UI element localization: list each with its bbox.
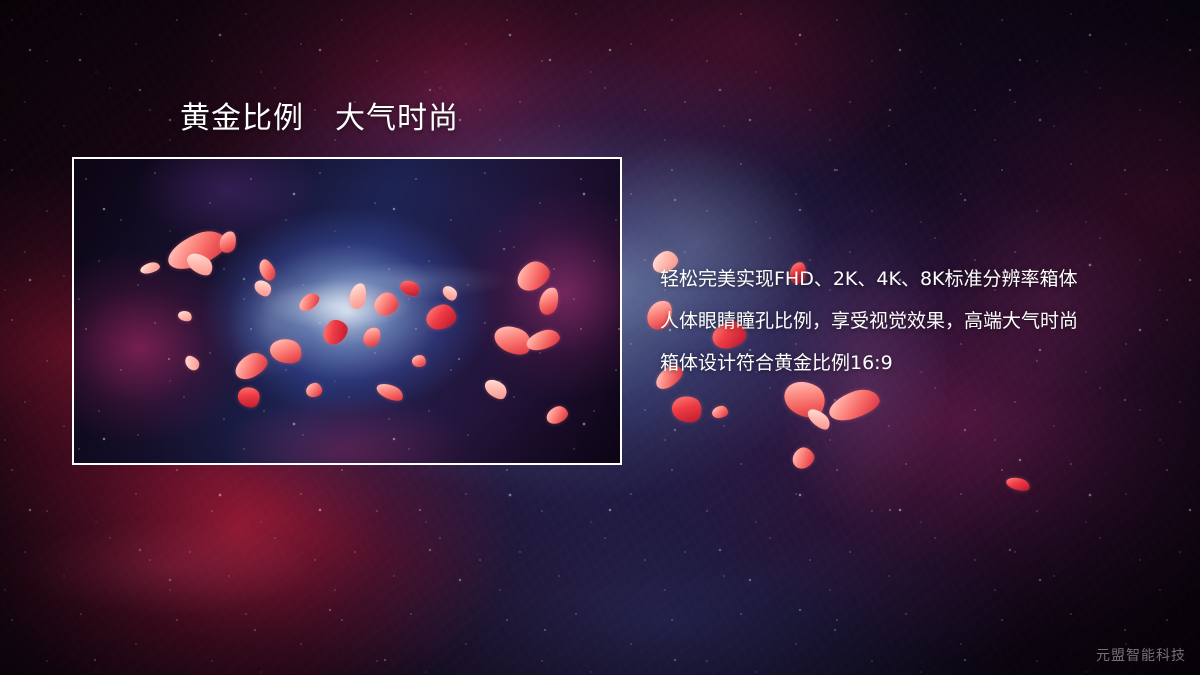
framed-image-content <box>74 159 620 463</box>
body-line-3: 箱体设计符合黄金比例16:9 <box>660 342 1160 384</box>
presentation-slide: 黄金比例 大气时尚 轻松完美实现FHD、2K、4K、8K标准分辨率箱体 人体眼睛… <box>0 0 1200 675</box>
framed-image[interactable] <box>72 157 622 465</box>
body-line-1: 轻松完美实现FHD、2K、4K、8K标准分辨率箱体 <box>660 258 1160 300</box>
page-title: 黄金比例 大气时尚 <box>180 101 459 137</box>
body-text-block: 轻松完美实现FHD、2K、4K、8K标准分辨率箱体 人体眼睛瞳孔比例，享受视觉效… <box>660 258 1160 384</box>
framed-nebula-wisp <box>74 159 620 463</box>
body-line-2: 人体眼睛瞳孔比例，享受视觉效果，高端大气时尚 <box>660 300 1160 342</box>
watermark: 元盟智能科技 <box>1096 645 1186 665</box>
